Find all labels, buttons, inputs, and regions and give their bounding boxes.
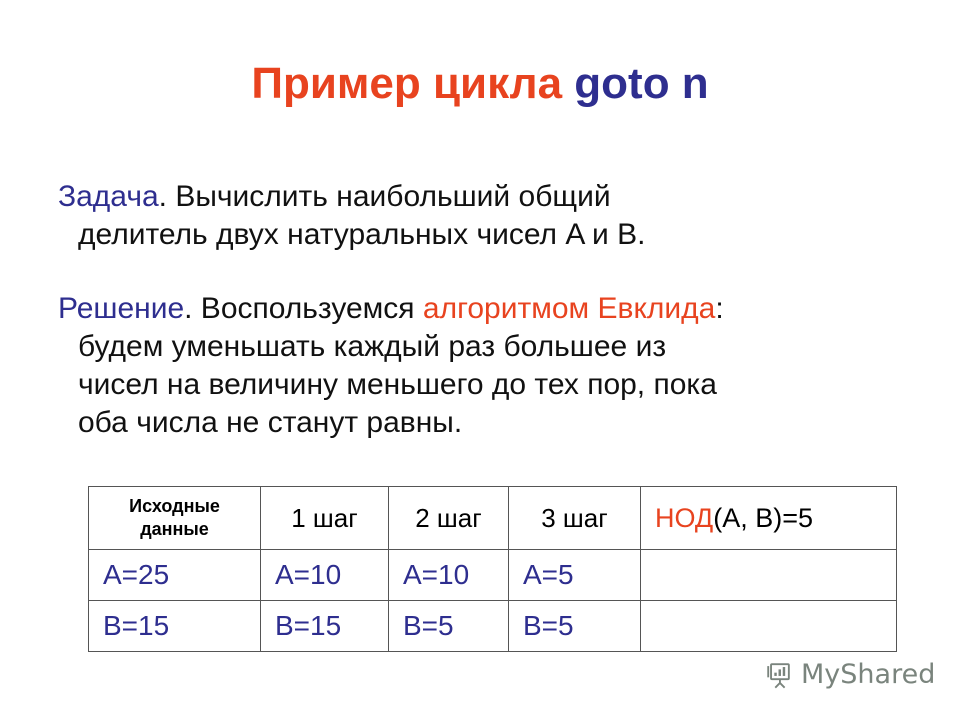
table-cell-step-3: B=5 (509, 601, 641, 652)
table-cell-step-2: A=10 (389, 550, 509, 601)
table-cell-source: B=15 (89, 601, 261, 652)
table-header-result-accent: НОД (655, 503, 713, 533)
table-header-source-line-2: данные (89, 518, 260, 541)
table-header-step-2: 2 шаг (389, 487, 509, 550)
paragraph-task-lead: Задача (58, 180, 159, 213)
table-header-result: НОД(A, B)=5 (641, 487, 897, 550)
table-row: A=25 A=10 A=10 A=5 (89, 550, 897, 601)
paragraph-solution-line-3: чисел на величину меньшего до тех пор, п… (58, 366, 948, 404)
page-title-keyword: goto n (574, 59, 708, 108)
paragraph-task-line-1-rest: . Вычислить наибольший общий (159, 180, 611, 213)
paragraph-solution-line-1: Решение. Воспользуемся алгоритмом Евклид… (58, 290, 948, 328)
table-cell-step-1: A=10 (261, 550, 389, 601)
table-header-step-1: 1 шаг (261, 487, 389, 550)
presentation-board-icon (764, 660, 794, 690)
table-row: B=15 B=15 B=5 B=5 (89, 601, 897, 652)
paragraph-task-line-2: делитель двух натуральных чисел A и B. (58, 216, 948, 254)
table-cell-result (641, 601, 897, 652)
table-cell-step-2: B=5 (389, 601, 509, 652)
paragraph-solution-line-2: будем уменьшать каждый раз большее из (58, 328, 948, 366)
table-header-source-line-1: Исходные (89, 495, 260, 518)
table-header-source: Исходные данные (89, 487, 261, 550)
paragraph-task: Задача. Вычислить наибольший общий делит… (58, 178, 948, 254)
table-cell-source: A=25 (89, 550, 261, 601)
table-header-step-3: 3 шаг (509, 487, 641, 550)
table-header-result-rest: (A, B)=5 (713, 503, 813, 533)
page-title-primary: Пример цикла (251, 59, 574, 108)
gcd-steps-table: Исходные данные 1 шаг 2 шаг 3 шаг НОД(A,… (88, 486, 897, 652)
paragraph-solution: Решение. Воспользуемся алгоритмом Евклид… (58, 290, 948, 442)
watermark: MyShared (764, 660, 935, 690)
table-header-row: Исходные данные 1 шаг 2 шаг 3 шаг НОД(A,… (89, 487, 897, 550)
table-cell-step-1: B=15 (261, 601, 389, 652)
paragraph-solution-line-1-mid: . Воспользуемся (184, 292, 423, 325)
paragraph-solution-lead: Решение (58, 292, 184, 325)
page-title: Пример цикла goto n (0, 58, 960, 110)
paragraph-solution-accent: алгоритмом Евклида (423, 292, 715, 325)
slide-canvas: Пример цикла goto n Задача. Вычислить на… (0, 0, 960, 720)
table-cell-step-3: A=5 (509, 550, 641, 601)
watermark-label: MyShared (801, 660, 935, 690)
paragraph-solution-line-1-tail: : (715, 292, 723, 325)
paragraph-solution-line-4: оба числа не станут равны. (58, 404, 948, 442)
table-cell-result (641, 550, 897, 601)
paragraph-task-line-1: Задача. Вычислить наибольший общий (58, 178, 948, 216)
